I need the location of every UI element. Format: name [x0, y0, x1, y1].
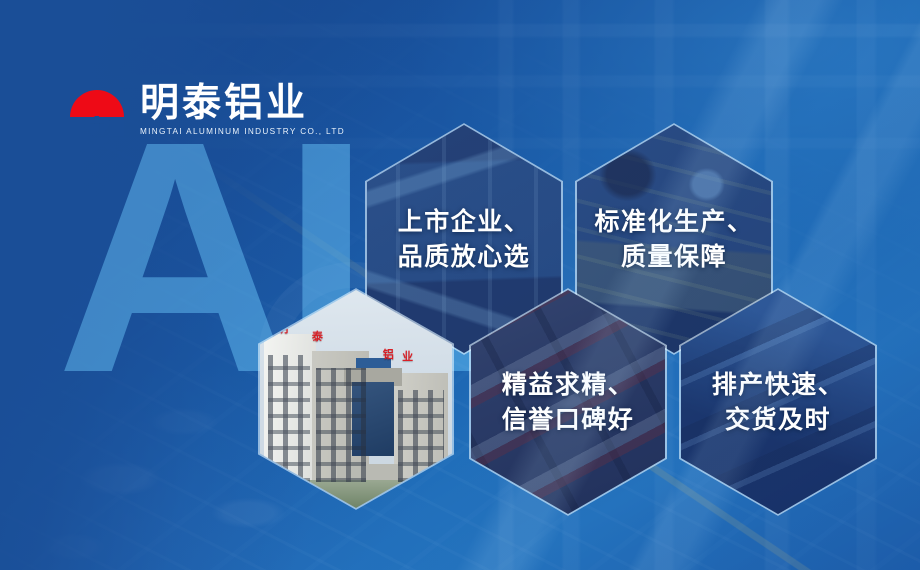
mingtai-aluminum-banner: AL 明泰铝业 MINGTAI ALUMINUM INDUSTRY CO., L…: [0, 0, 920, 570]
hexagon-label: 上市企业、 品质放心选: [398, 204, 531, 275]
roof-char-2: 泰: [312, 331, 323, 342]
brand-name-cn: 明泰铝业: [140, 84, 345, 123]
brand-logo-text: 明泰铝业 MINGTAI ALUMINUM INDUSTRY CO., LTD: [140, 84, 345, 138]
brand-logo[interactable]: 明泰铝业 MINGTAI ALUMINUM INDUSTRY CO., LTD: [66, 76, 345, 138]
mingtai-sun-mountain-logo-icon: [66, 76, 128, 138]
roof-char-4: 业: [402, 351, 413, 362]
hexagon-label: 精益求精、 信誉口碑好: [502, 367, 635, 438]
hexagon-label: 标准化生产、 质量保障: [594, 204, 753, 275]
brand-name-en: MINGTAI ALUMINUM INDUSTRY CO., LTD: [140, 128, 345, 136]
roof-char-3: 铝: [383, 349, 394, 360]
hexagon-label: 排产快速、 交货及时: [712, 367, 845, 438]
